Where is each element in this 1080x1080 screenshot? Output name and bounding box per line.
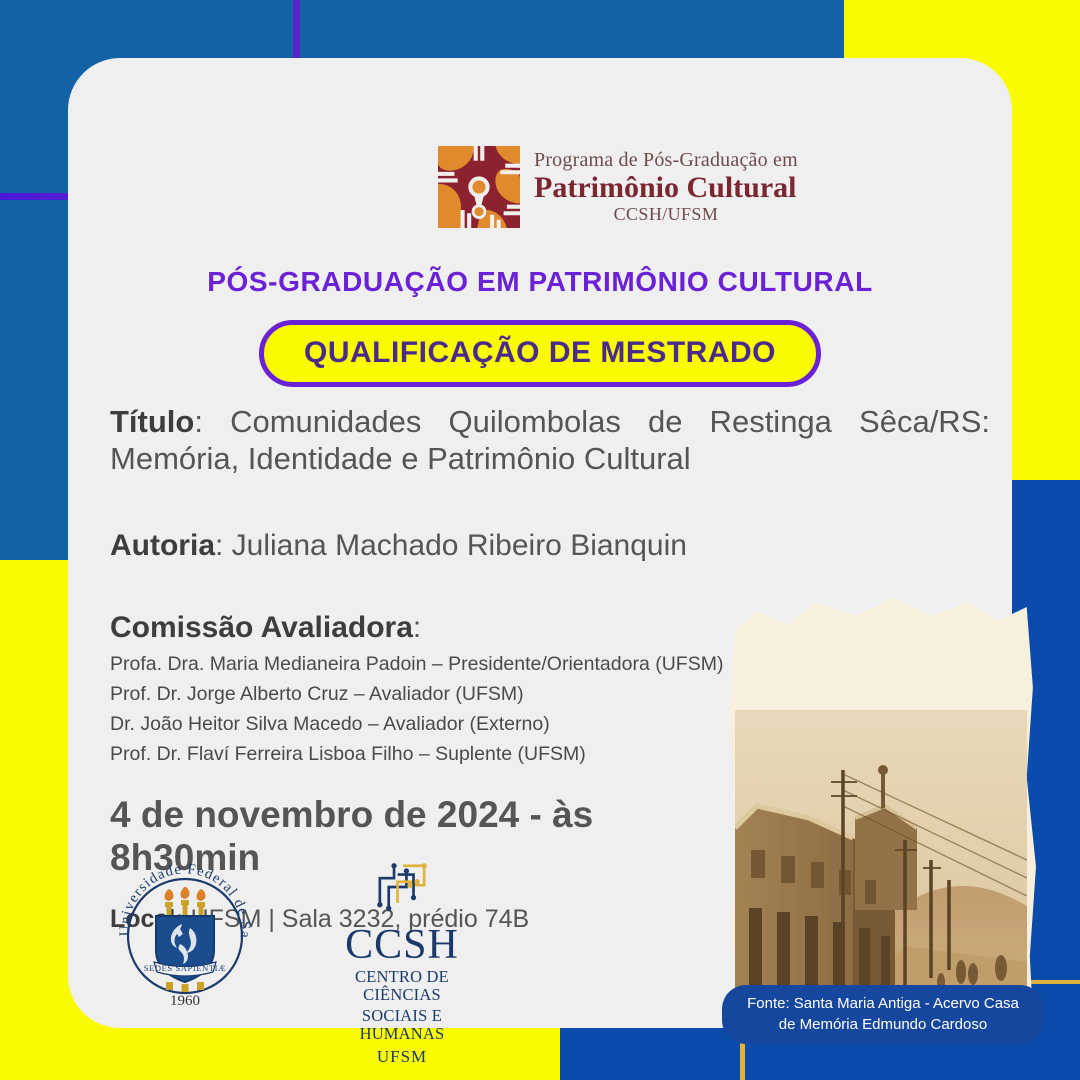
thesis-title-sep: : bbox=[194, 404, 230, 439]
photo-image bbox=[735, 710, 1027, 1028]
program-kicker: PÓS-GRADUAÇÃO EM PATRIMÔNIO CULTURAL bbox=[68, 266, 1012, 298]
ccsh-logo: CCSH CENTRO DE CIÊNCIAS SOCIAIS E HUMANA… bbox=[322, 858, 482, 1067]
program-logo-line1: Programa de Pós-Graduação em bbox=[534, 150, 798, 171]
ufsm-logo: Universidade Federal de Santa Maria bbox=[110, 858, 260, 1008]
photo-caption: Fonte: Santa Maria Antiga - Acervo Casa … bbox=[722, 985, 1044, 1044]
committee-heading-text: Comissão Avaliadora bbox=[110, 611, 413, 644]
ccsh-mark-icon bbox=[371, 858, 433, 916]
committee-heading-colon: : bbox=[413, 611, 421, 644]
author-line: Autoria: Juliana Machado Ribeiro Bianqui… bbox=[110, 529, 1010, 563]
historic-photo bbox=[726, 598, 1036, 1046]
author-value: Juliana Machado Ribeiro Bianquin bbox=[232, 529, 687, 562]
ccsh-line1: CENTRO DE CIÊNCIAS bbox=[322, 968, 482, 1005]
poster-root: Programa de Pós-Graduação em Patrimônio … bbox=[0, 0, 1080, 1080]
svg-text:SEDES SAPIENTIÆ: SEDES SAPIENTIÆ bbox=[144, 963, 226, 973]
ccsh-line2: SOCIAIS E HUMANAS bbox=[322, 1007, 482, 1044]
program-logo: Programa de Pós-Graduação em Patrimônio … bbox=[438, 146, 798, 228]
svg-text:1960: 1960 bbox=[170, 993, 200, 1008]
footer-logos: Universidade Federal de Santa Maria bbox=[110, 858, 482, 1067]
ufsm-seal-icon: Universidade Federal de Santa Maria bbox=[110, 858, 260, 1008]
patrimonio-cultural-mark-icon bbox=[438, 146, 520, 228]
program-logo-line3: CCSH/UFSM bbox=[534, 205, 798, 224]
ccsh-line3: UFSM bbox=[322, 1047, 482, 1067]
ccsh-acronym: CCSH bbox=[322, 924, 482, 966]
program-logo-line2: Patrimônio Cultural bbox=[534, 172, 798, 203]
thesis-title-value: Comunidades Quilombolas de Restinga Sêca… bbox=[110, 404, 990, 476]
author-label: Autoria bbox=[110, 529, 215, 562]
thesis-title-line: Título: Comunidades Quilombolas de Resti… bbox=[110, 404, 990, 477]
author-sep: : bbox=[215, 529, 232, 562]
thesis-title-label: Título bbox=[110, 404, 194, 439]
santa-maria-antiga-street-photo-icon bbox=[735, 710, 1027, 1028]
